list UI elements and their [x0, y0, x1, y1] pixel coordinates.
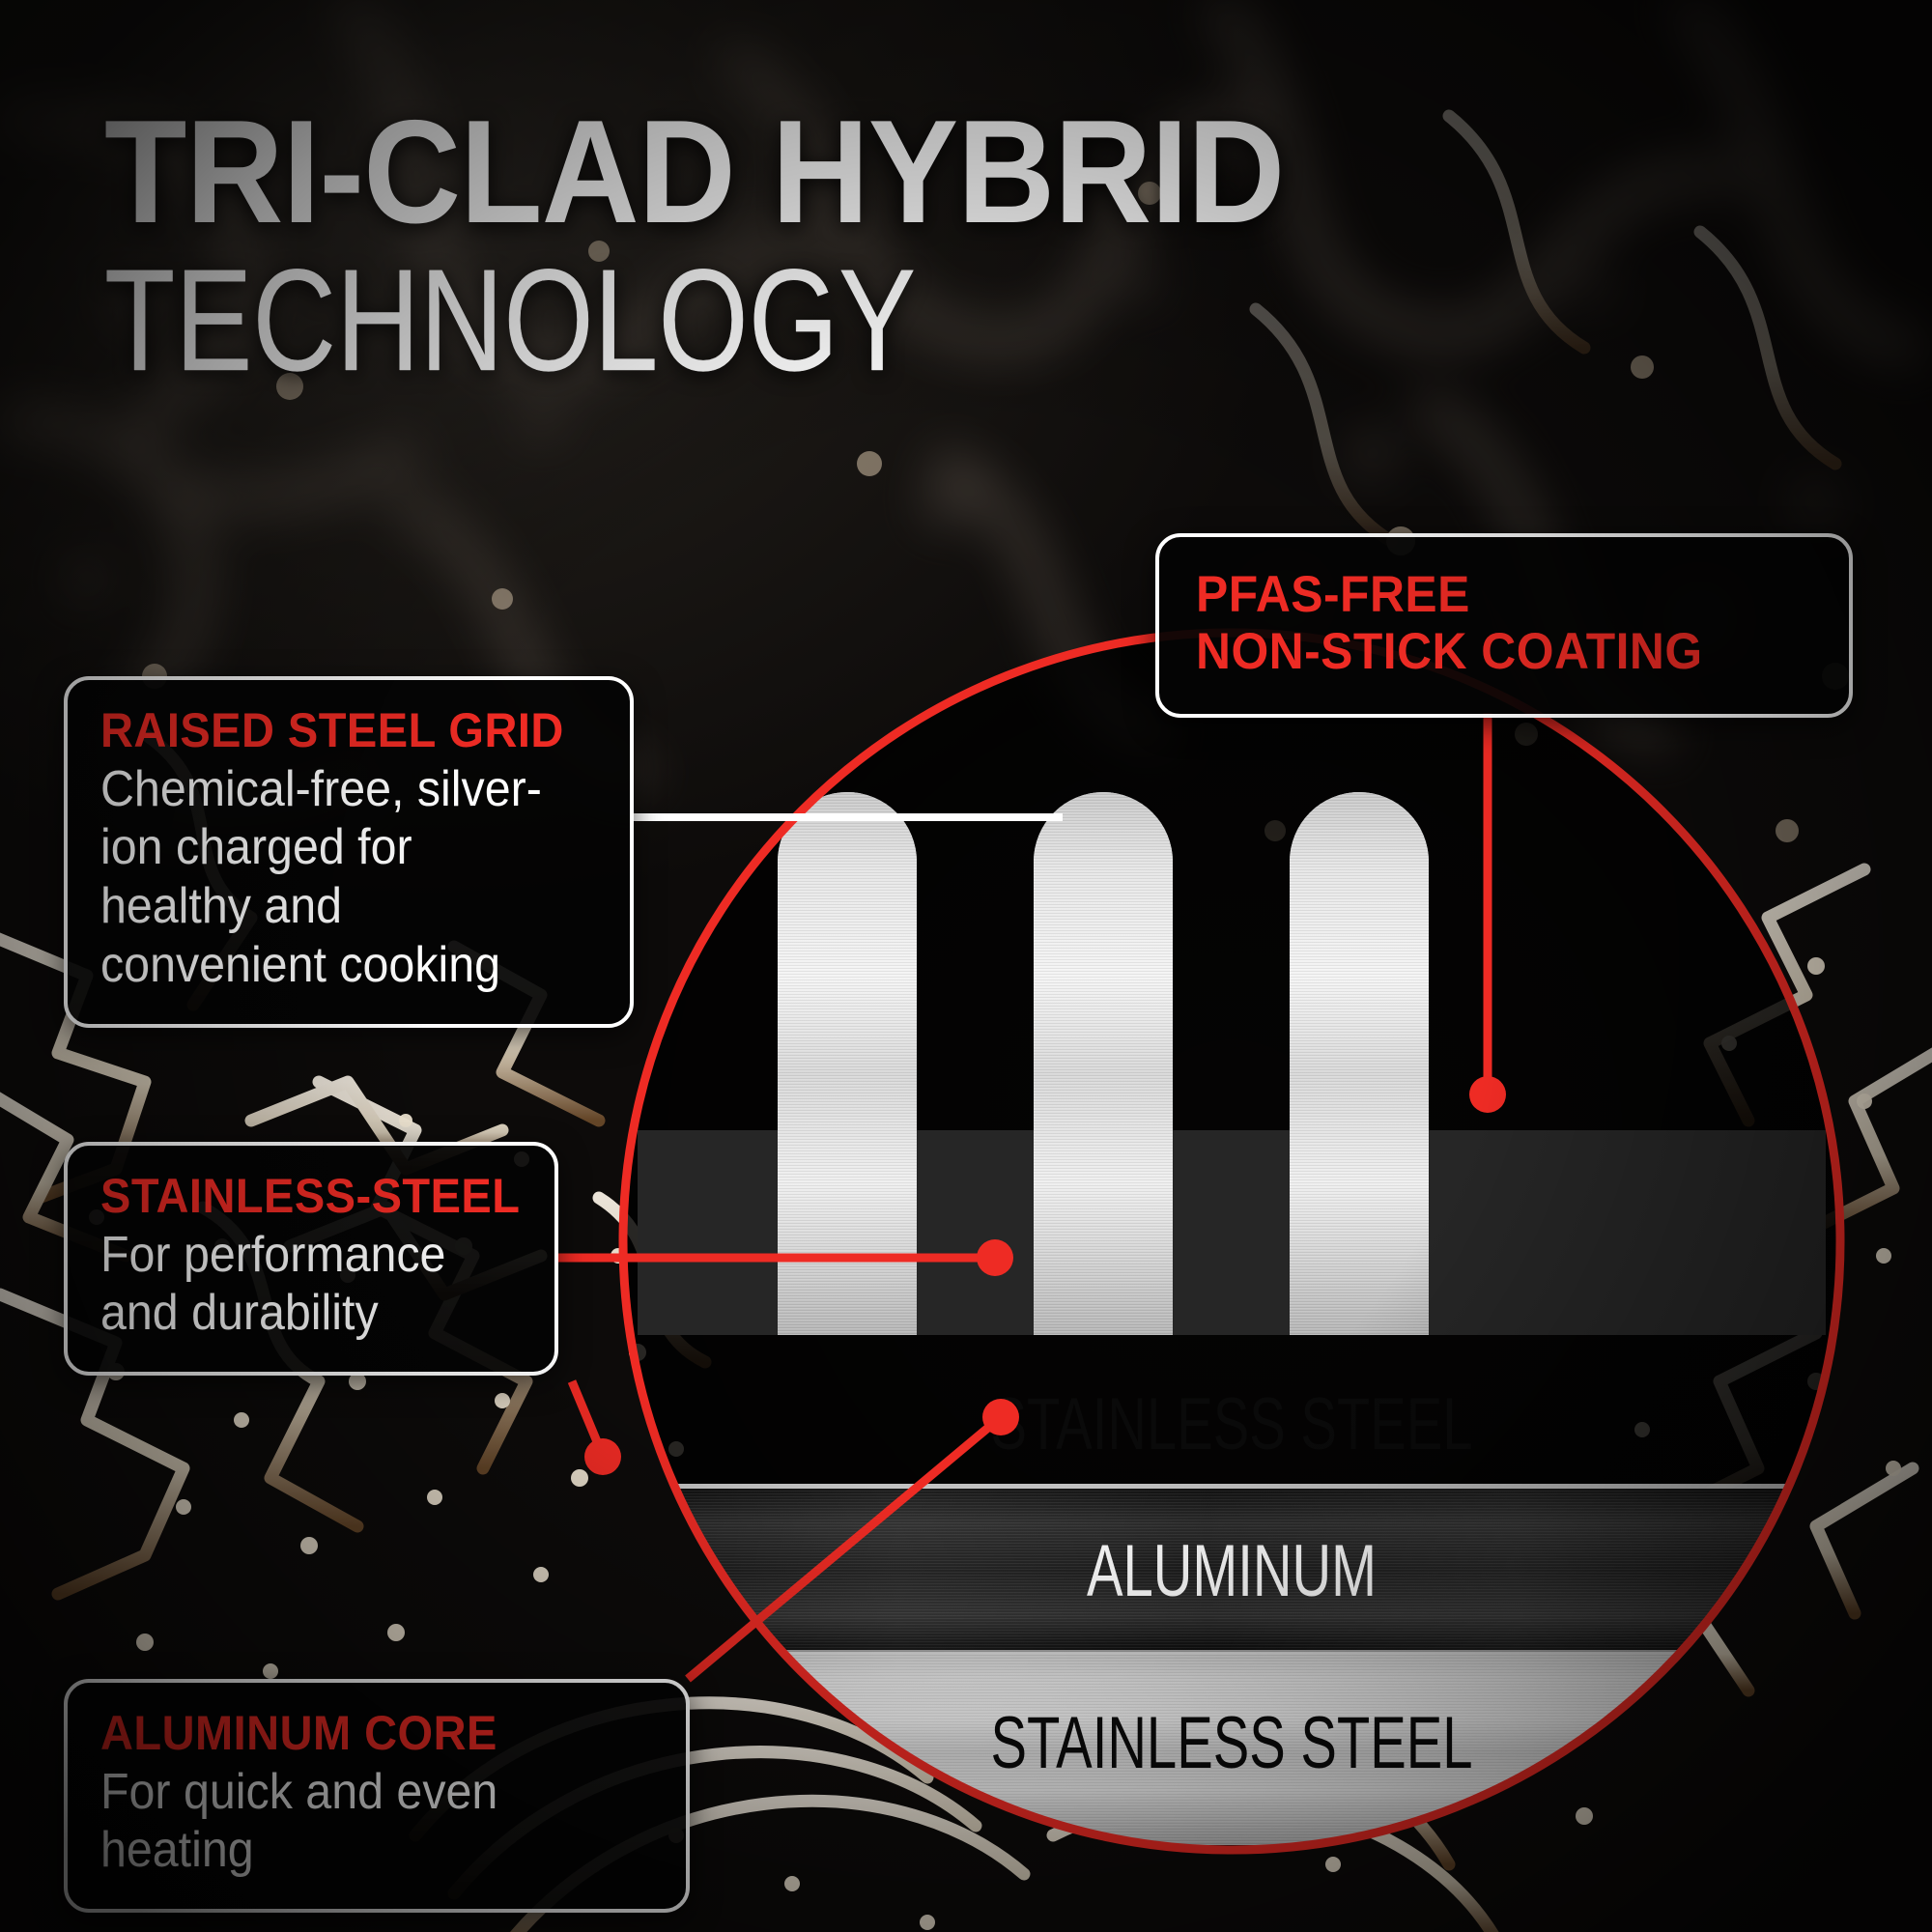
label-aluminum: ALUMINUM	[1087, 1530, 1377, 1612]
callout-heading: ALUMINUM CORE	[100, 1708, 620, 1759]
title-line-secondary: TECHNOLOGY	[104, 246, 1032, 394]
label-stainless-top: STAINLESS STEEL	[991, 1383, 1473, 1465]
circle-interior: STAINLESS STEEL ALUMINUM STAINLESS STEEL	[609, 618, 1855, 1864]
callout-aluminum-core[interactable]: ALUMINUM CORE For quick and even heating	[64, 1679, 690, 1913]
callout-body: For quick and even heating	[100, 1763, 614, 1881]
callout-stainless-steel[interactable]: STAINLESS-STEEL For performance and dura…	[64, 1142, 558, 1376]
callout-body: Chemical-free, silver-ion charged for he…	[100, 760, 562, 995]
callout-body: For performance and durability	[100, 1226, 492, 1344]
callout-pfas-free[interactable]: PFAS-FREE NON-STICK COATING	[1155, 533, 1853, 718]
page-title: TRI-CLAD HYBRID TECHNOLOGY	[104, 104, 1264, 394]
callout-heading: STAINLESS-STEEL	[100, 1171, 497, 1222]
grid-fingers	[778, 792, 1429, 1335]
callout-heading: RAISED STEEL GRID	[100, 705, 567, 756]
label-stainless-bottom: STAINLESS STEEL	[991, 1702, 1473, 1784]
callout-raised-steel-grid[interactable]: RAISED STEEL GRID Chemical-free, silver-…	[64, 676, 634, 1028]
cross-section-diagram: STAINLESS STEEL ALUMINUM STAINLESS STEEL	[609, 618, 1855, 1864]
callout-heading-line-1: PFAS-FREE	[1196, 566, 1778, 623]
callout-heading-line-2: NON-STICK COATING	[1196, 623, 1778, 680]
infographic-canvas: STAINLESS STEEL ALUMINUM STAINLESS STEEL	[0, 0, 1932, 1932]
title-line-primary: TRI-CLAD HYBRID	[104, 104, 1171, 241]
